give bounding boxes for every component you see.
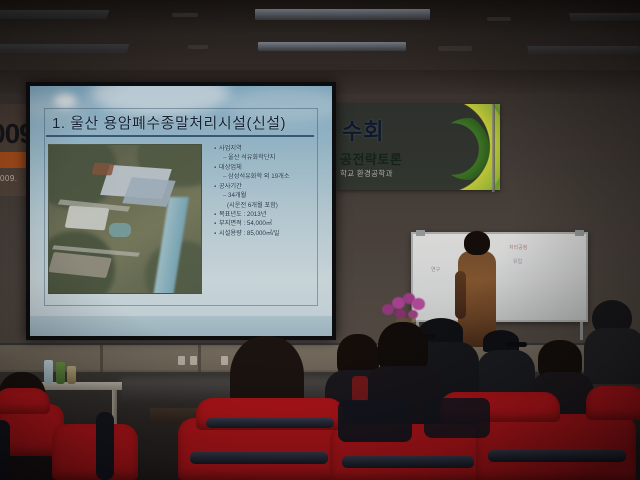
- audience-member: [372, 322, 434, 412]
- scarf: [352, 376, 368, 402]
- drink-bottle[interactable]: [67, 366, 76, 384]
- slide-bullet: ▪시설용량 : 85,000㎥/일: [210, 229, 314, 238]
- ceiling-light: [0, 10, 109, 19]
- audience-member: [481, 330, 529, 400]
- seat-rail: [190, 452, 328, 464]
- ceiling-light: [258, 42, 406, 51]
- projection-screen-bottom-band: [30, 316, 332, 336]
- seat-rail: [206, 418, 334, 428]
- cap-brim: [505, 342, 527, 347]
- projection-screen: 1. 울산 용암폐수종말처리시설(신설) ▪사업지역 –울산 석유화학단지 ▪대…: [30, 86, 332, 334]
- seat-back[interactable]: [476, 414, 636, 480]
- slide-bullet-text: 대상업체: [219, 164, 242, 171]
- whiteboard-note: 연구: [431, 266, 440, 273]
- whiteboard-leg: [580, 322, 583, 340]
- seat-armrest: [0, 420, 10, 480]
- ceiling-vent: [188, 45, 208, 49]
- banner-right-dept: 학교 환경공학과: [340, 168, 393, 179]
- slide-bullet: (시운전 6개월 포함): [210, 201, 314, 210]
- ceiling-light: [569, 13, 640, 21]
- photo-facility-roof: [122, 177, 175, 207]
- presenter-head: [464, 231, 490, 255]
- ceiling-vent: [487, 17, 511, 21]
- lecture-hall-photo: 009 업 2009. 수회 공전략토론 학교 환경공학과 1. 울산 용암폐수…: [0, 0, 640, 480]
- slide-title: 1. 울산 용암폐수종말처리시설(신설): [46, 110, 314, 137]
- seat-back[interactable]: [0, 388, 50, 414]
- slide-bullet: –34개월: [210, 191, 314, 200]
- seat-shadow: [424, 398, 490, 438]
- slide-bullet: ▪목표년도 : 2013년: [210, 210, 314, 219]
- banner-left-year: 2009.: [0, 174, 18, 183]
- seat-shadow: [338, 400, 412, 442]
- slide-photo: [48, 144, 202, 294]
- cap: [483, 330, 519, 352]
- slide-bullet-list: ▪사업지역 –울산 석유화학단지 ▪대상업체 –삼성석유화학 외 19개소 ▪공…: [210, 144, 314, 238]
- slide-bullet: –삼성석유화학 외 19개소: [210, 172, 314, 181]
- whiteboard-clip: [575, 230, 584, 236]
- flower-blossom: [412, 298, 425, 310]
- seat-back[interactable]: [52, 424, 138, 480]
- banner-pole: [492, 104, 495, 192]
- slide-bullet: ▪대상업체: [210, 163, 314, 172]
- seat-rail: [342, 456, 474, 468]
- banner-right-subtitle: 공전략토론: [340, 149, 402, 168]
- power-outlet[interactable]: [190, 356, 197, 365]
- ceiling-speaker: [438, 46, 472, 51]
- whiteboard: 처리공정 유입 연구: [411, 232, 588, 322]
- slide-bullet-text: (시운전 6개월 포함): [227, 202, 278, 209]
- wainscot-seam: [198, 345, 201, 375]
- slide-bullet-text: 시설용량 : 85,000㎥/일: [219, 230, 279, 237]
- slide-bullet-text: 목표년도 : 2013년: [219, 211, 266, 218]
- audience-member: [588, 300, 640, 380]
- slide-bullet-text: 사업지역: [219, 145, 242, 152]
- power-outlet[interactable]: [178, 356, 185, 365]
- slide-bullet-text: 34개월: [228, 192, 246, 199]
- ceiling-light: [527, 46, 640, 54]
- photo-pond: [109, 223, 131, 237]
- photo-building: [92, 162, 115, 175]
- seat-armrest: [96, 412, 114, 480]
- photo-building: [65, 206, 110, 231]
- whiteboard-note: 처리공정: [509, 244, 527, 251]
- torso: [584, 328, 640, 384]
- ceiling-light: [255, 9, 430, 20]
- ceiling-light: [0, 44, 129, 53]
- slide-bullet: ▪사업지역: [210, 144, 314, 153]
- banner-right: 수회 공전략토론 학교 환경공학과: [336, 104, 500, 190]
- slide-bullet-text: 삼성석유화학 외 19개소: [228, 173, 290, 180]
- banner-swoosh-core: [436, 118, 500, 180]
- ceiling-vent: [172, 13, 198, 17]
- seat-back[interactable]: [586, 386, 640, 420]
- slide-bullet: –울산 석유화학단지: [210, 153, 314, 162]
- whiteboard-clip: [416, 230, 425, 236]
- seat-rail: [488, 450, 626, 462]
- slide-bullet: ▪부지면적 : 54,000㎡: [210, 219, 314, 228]
- slide-bullet-text: 울산 석유화학단지: [228, 154, 275, 161]
- slide-bullet-text: 공사기간: [219, 183, 242, 190]
- screen-glare: [54, 94, 76, 108]
- banner-right-title: 수회: [342, 114, 384, 146]
- whiteboard-note: 유입: [513, 258, 522, 265]
- wainscot-seam: [100, 345, 103, 375]
- presenter-arm: [455, 271, 466, 319]
- slide-bullet-text: 부지면적 : 54,000㎡: [219, 220, 272, 227]
- slide-bullet: ▪공사기간: [210, 182, 314, 191]
- ceiling: [0, 0, 640, 78]
